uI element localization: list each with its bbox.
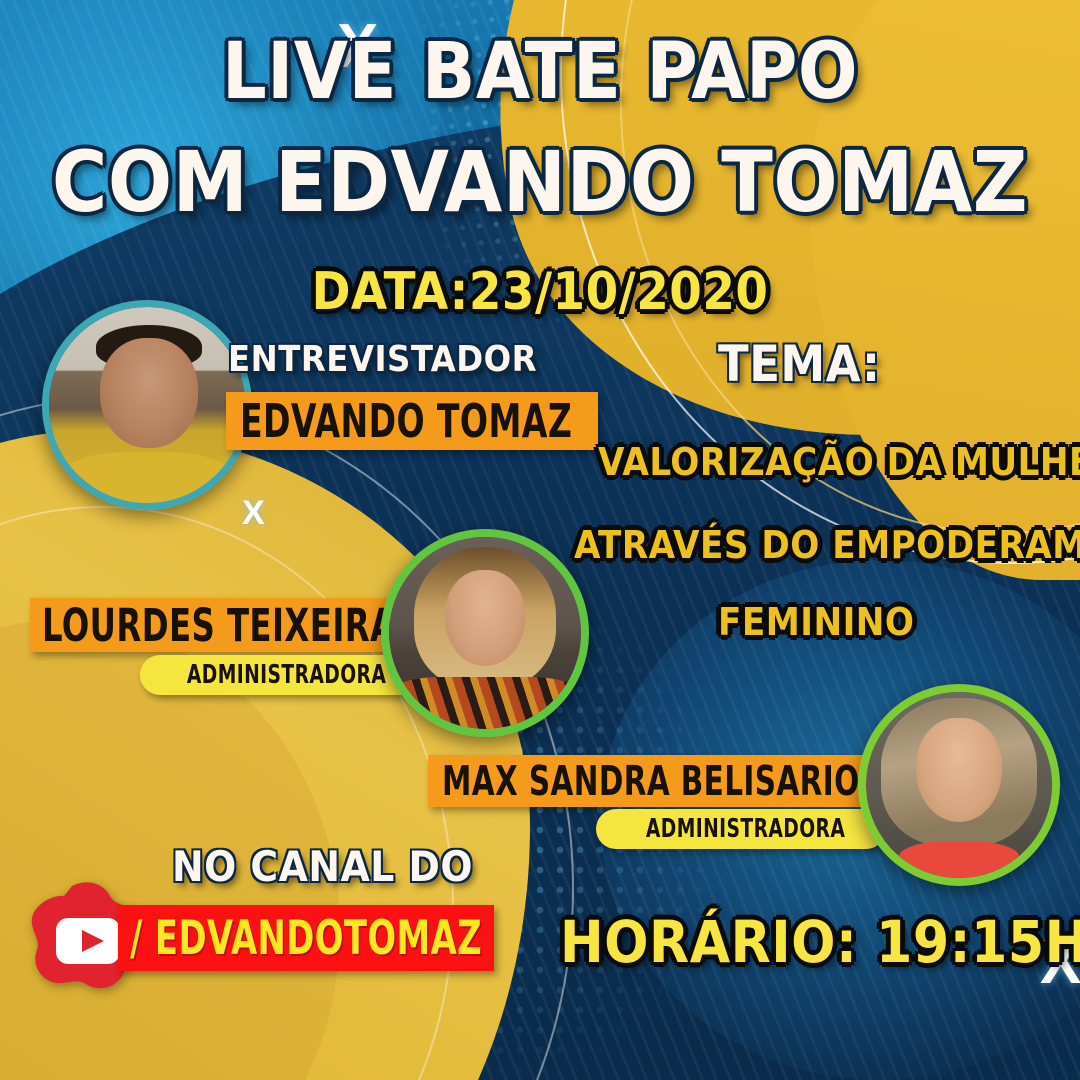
avatar-max-sandra-belisario [858,684,1060,886]
theme-line-3-text: FEMININO [718,600,914,644]
interviewer-name-banner: EDVANDO TOMAZ [226,392,598,450]
theme-line-2-text: ATRAVÉS DO EMPODERAMENTO [574,523,1080,567]
portrait-art-edvando [49,307,245,503]
theme-line-1: VALORIZAÇÃO DA MULHER [598,440,1080,485]
theme-line-1-text: VALORIZAÇÃO DA MULHER [598,440,1080,484]
guest-1-name-text: LOURDES TEIXEIRA [42,599,396,652]
theme-line-3: FEMININO [718,600,914,645]
portrait-art-lourdes [389,537,581,729]
x-decoration-icon-middle: X [242,496,265,530]
channel-handle-text: / EDVANDOTOMAZ [130,911,482,966]
portrait-dress [393,677,577,729]
guest-2-role-badge: ADMINISTRADORA [596,809,886,849]
portrait-face [916,718,1002,822]
portrait-face [100,338,198,448]
interviewer-role-text: ENTREVISTADOR [228,339,537,380]
title-line-2-text: COM EDVANDO TOMAZ [52,133,1028,231]
guest-2-name-text: MAX SANDRA BELISARIO [442,757,860,805]
interviewer-name-text: EDVANDO TOMAZ [240,394,572,448]
avatar-lourdes-image [389,537,581,729]
guest-2-name-banner: MAX SANDRA BELISARIO [428,755,874,807]
portrait-face [445,570,526,666]
theme-line-2: ATRAVÉS DO EMPODERAMENTO [574,523,1080,568]
portrait-shirt [65,452,230,503]
theme-heading: TEMA: [718,335,880,393]
avatar-edvando-tomaz [42,300,252,510]
avatar-lourdes-teixeira [381,529,589,737]
portrait-art-max-sandra [866,692,1052,878]
title-line-1-text: LIVE BATE PAPO [222,27,858,117]
channel-handle-banner[interactable]: / EDVANDOTOMAZ [118,905,494,971]
guest-2-role-text: ADMINISTRADORA [646,814,845,844]
channel-prefix-label: NO CANAL DO [172,842,473,891]
event-schedule: HORÁRIO: 19:15HS [560,908,1080,976]
guest-1-name-banner: LOURDES TEIXEIRA [30,598,414,652]
live-announcement-poster: X X X LIVE BATE PAPO COM EDVANDO TOMAZ D… [0,0,1080,1080]
event-date-text: DATA:23/10/2020 [312,262,769,322]
channel-prefix-text: NO CANAL DO [172,842,473,891]
poster-title-line-2: COM EDVANDO TOMAZ [0,133,1080,231]
event-schedule-text: HORÁRIO: 19:15HS [560,908,1080,976]
guest-1-role-text: ADMINISTRADORA [187,660,386,690]
avatar-edvando-image [49,307,245,503]
avatar-max-sandra-image [866,692,1052,878]
poster-title-line-1: LIVE BATE PAPO [0,26,1080,117]
theme-heading-text: TEMA: [718,335,880,393]
portrait-top [899,841,1018,878]
interviewer-role-label: ENTREVISTADOR [228,338,537,380]
